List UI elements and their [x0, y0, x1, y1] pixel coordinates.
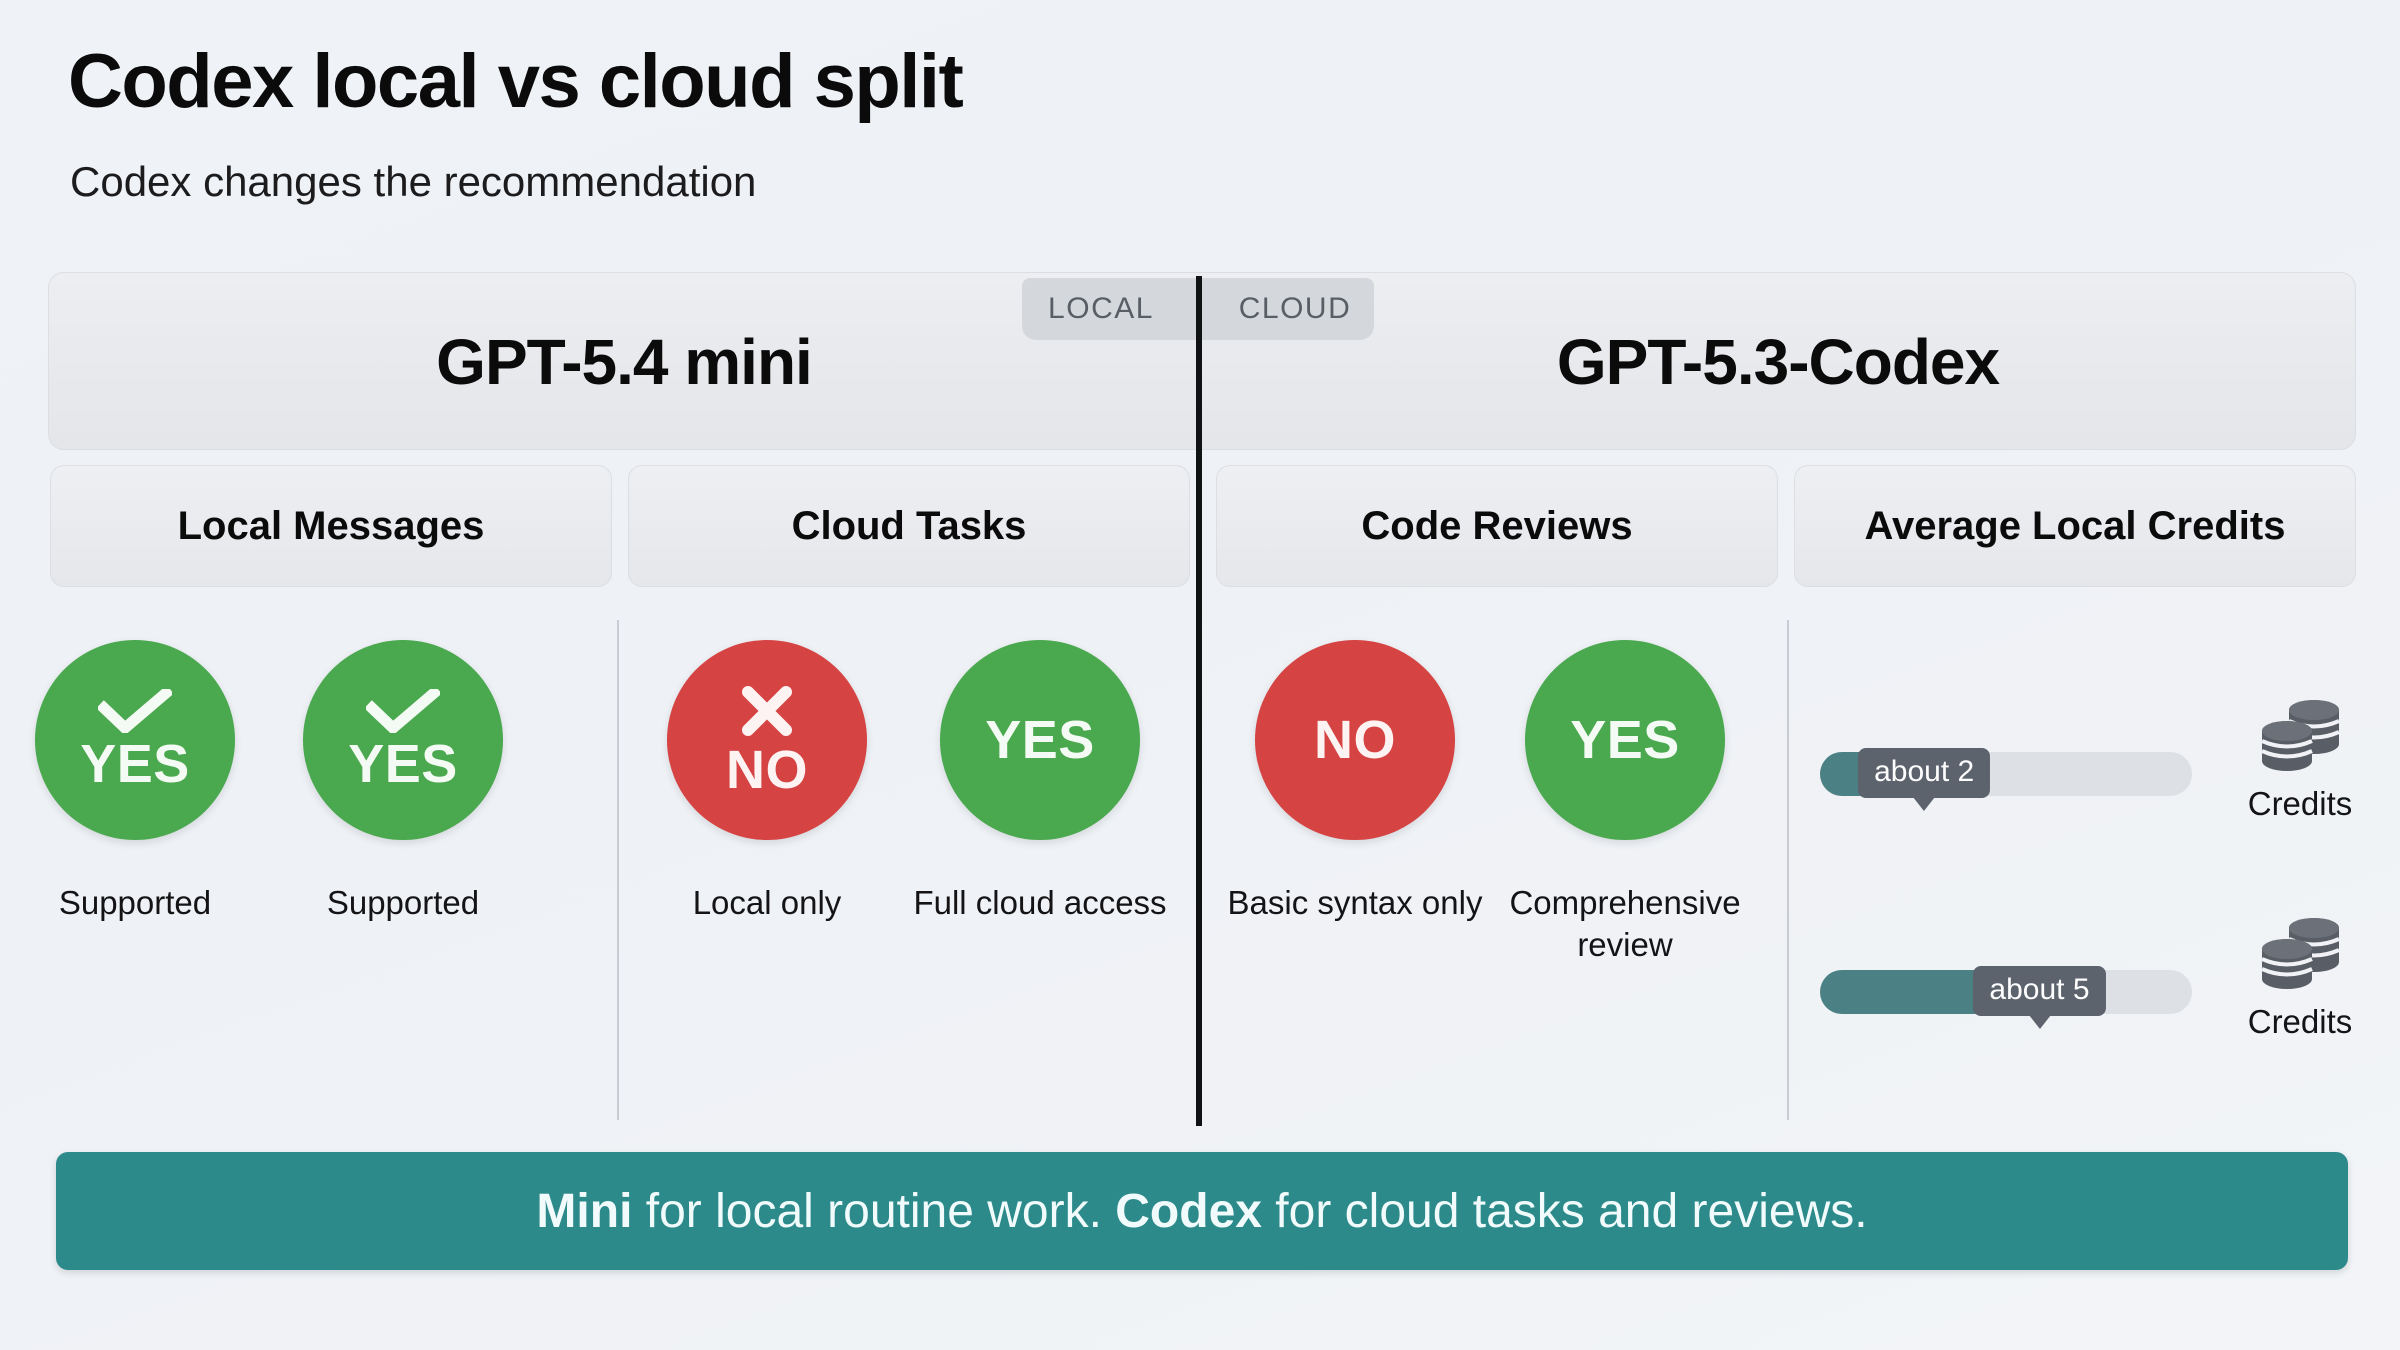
- verdict-cell: YES Supported: [258, 640, 548, 924]
- badge-label: NO: [726, 743, 808, 797]
- status-badge-yes: YES: [35, 640, 235, 840]
- credits-unit-label: Credits: [2220, 785, 2380, 823]
- category-header-code-reviews: Code Reviews: [1216, 465, 1778, 587]
- cell-caption: Basic syntax only: [1220, 882, 1490, 924]
- segment-label-cloud[interactable]: CLOUD: [1198, 292, 1374, 326]
- credits-tooltip: about 2: [1858, 748, 1990, 798]
- status-badge-no: NO: [667, 640, 867, 840]
- page-title: Codex local vs cloud split: [68, 38, 962, 125]
- status-badge-no: NO: [1255, 640, 1455, 840]
- badge-label: YES: [348, 737, 458, 791]
- category-header-cloud-tasks: Cloud Tasks: [628, 465, 1190, 587]
- banner-text-1: for local routine work.: [632, 1185, 1115, 1238]
- credits-unit-block: Credits: [2220, 694, 2380, 823]
- page-subtitle: Codex changes the recommendation: [70, 158, 756, 206]
- banner-bold-codex: Codex: [1115, 1185, 1262, 1238]
- infographic-root: Codex local vs cloud split Codex changes…: [0, 0, 2400, 1350]
- cell-caption: Local only: [632, 882, 902, 924]
- local-cloud-divider: [1196, 276, 1202, 1126]
- verdict-cell: YES Full cloud access: [895, 640, 1185, 924]
- cell-caption: Comprehensive review: [1490, 882, 1760, 966]
- cell-caption: Supported: [268, 882, 538, 924]
- credits-tooltip: about 5: [1973, 966, 2105, 1016]
- credits-unit-block: Credits: [2220, 912, 2380, 1041]
- badge-label: NO: [1314, 713, 1396, 767]
- column-separator-left: [617, 620, 619, 1120]
- credits-bar-track: about 5: [1820, 970, 2192, 1014]
- banner-bold-mini: Mini: [536, 1185, 632, 1238]
- status-badge-yes: YES: [303, 640, 503, 840]
- check-icon: [366, 689, 440, 733]
- status-badge-yes: YES: [1525, 640, 1725, 840]
- badge-label: YES: [1570, 713, 1680, 767]
- cell-caption: Supported: [0, 882, 270, 924]
- credits-unit-label: Credits: [2220, 1003, 2380, 1041]
- badge-label: YES: [80, 737, 190, 791]
- recommendation-banner: Mini for local routine work. Codex for c…: [56, 1152, 2348, 1270]
- credits-bar-track: about 2: [1820, 752, 2192, 796]
- category-header-local-messages: Local Messages: [50, 465, 612, 587]
- verdict-cell: NO Basic syntax only: [1210, 640, 1500, 924]
- banner-text-2: for cloud tasks and reviews.: [1262, 1185, 1868, 1238]
- verdict-cell: YES Comprehensive review: [1480, 640, 1770, 966]
- verdict-cell: NO Local only: [622, 640, 912, 924]
- badge-label: YES: [985, 713, 1095, 767]
- cross-icon: [739, 683, 795, 739]
- status-badge-yes: YES: [940, 640, 1140, 840]
- check-icon: [98, 689, 172, 733]
- category-header-average-local-credits: Average Local Credits: [1794, 465, 2356, 587]
- recommendation-text: Mini for local routine work. Codex for c…: [536, 1184, 1867, 1239]
- verdict-cell: YES Supported: [0, 640, 280, 924]
- cell-caption: Full cloud access: [905, 882, 1175, 924]
- column-separator-right: [1787, 620, 1789, 1120]
- coins-icon: [2252, 983, 2348, 1000]
- segment-label-local[interactable]: LOCAL: [1022, 292, 1198, 326]
- coins-icon: [2252, 765, 2348, 782]
